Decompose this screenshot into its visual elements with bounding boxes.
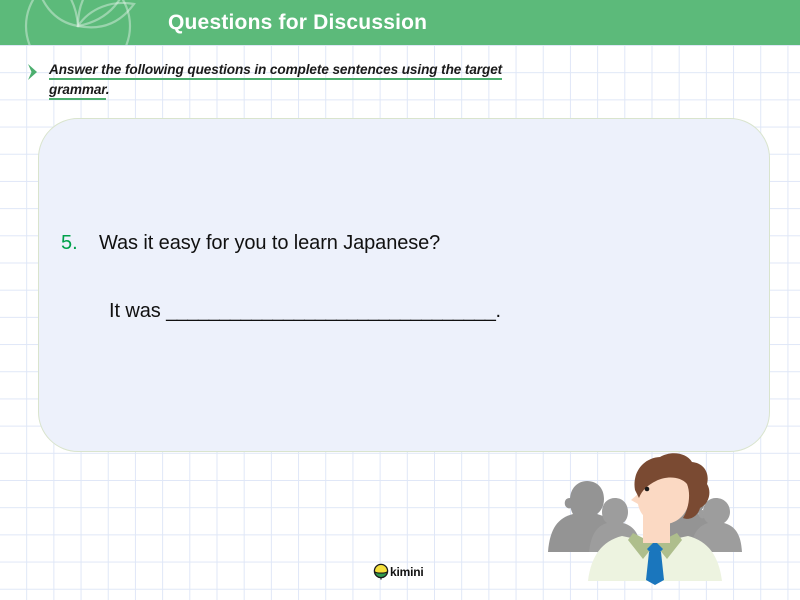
question-line: 5. Was it easy for you to learn Japanese… — [61, 229, 721, 257]
people-group-illustration — [540, 448, 770, 588]
answer-blank-field[interactable]: _______________________________ — [166, 300, 495, 322]
center-person-body — [588, 536, 722, 581]
center-person-collar — [628, 533, 682, 559]
center-person-neck — [643, 514, 670, 543]
footer-logo-text: kimini — [390, 563, 423, 581]
instruction-underlined-line-1: Answer the following questions in comple… — [49, 62, 502, 80]
center-person-eye — [645, 487, 650, 492]
center-person-tie — [646, 541, 664, 585]
answer-prefix: It was — [109, 300, 161, 322]
center-person-hair — [634, 453, 709, 519]
chevron-right-bullet-icon — [26, 63, 41, 81]
silhouette-mid-right — [690, 498, 742, 552]
question-card: 5. Was it easy for you to learn Japanese… — [38, 118, 770, 452]
page-title: Questions for Discussion — [168, 0, 427, 45]
silhouette-back-right — [649, 481, 723, 552]
silhouette-mid-left — [589, 498, 641, 552]
leaf-g-watermark-icon — [0, 0, 162, 45]
instruction-row: Answer the following questions in comple… — [26, 60, 726, 100]
kimini-egg-logo-icon — [373, 563, 389, 581]
silhouette-back-left — [548, 481, 622, 552]
question-block: 5. Was it easy for you to learn Japanese… — [61, 229, 721, 325]
question-number: 5. — [61, 229, 99, 257]
footer-logo: kimini — [373, 563, 423, 581]
center-person-face — [631, 464, 690, 524]
instruction-period: . — [106, 82, 110, 97]
header-bar: Questions for Discussion — [0, 0, 800, 45]
answer-period: . — [495, 300, 500, 322]
answer-line: It was _______________________________. — [109, 297, 721, 325]
slide-root: Questions for Discussion Answer the foll… — [0, 0, 800, 600]
instruction-text: Answer the following questions in comple… — [49, 60, 502, 100]
instruction-underlined-line-2: grammar — [49, 82, 106, 100]
question-text: Was it easy for you to learn Japanese? — [99, 229, 440, 257]
